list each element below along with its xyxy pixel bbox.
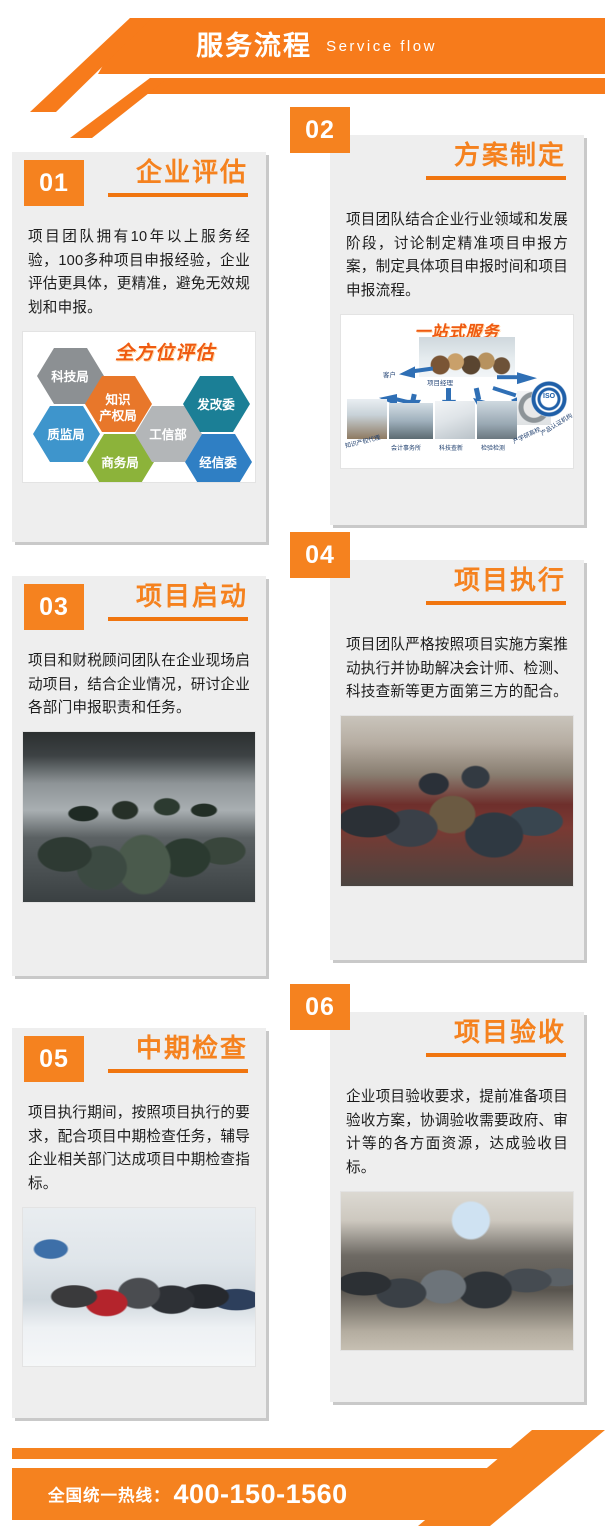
step-card-03[interactable]: 03 项目启动 项目和财税顾问团队在企业现场启动项目，结合企业情况，研讨企业各部… — [12, 576, 266, 976]
step-number-badge: 05 — [24, 1036, 84, 1082]
onestop-photo-search — [435, 401, 475, 439]
svg-text:发改委: 发改委 — [196, 397, 235, 412]
card-body-text: 项目团队拥有10年以上服务经验，100多种项目申报经验，企业评估更具体，更精准，… — [12, 214, 266, 331]
step-card-04[interactable]: 04 项目执行 项目团队严格按照项目实施方案推动执行并协助解决会计师、检测、科技… — [330, 560, 584, 960]
onestop-bottom-label-1: 会计事务所 — [391, 443, 421, 452]
step-number-badge: 04 — [290, 532, 350, 578]
onestop-bottom-label-2: 科技查新 — [439, 443, 463, 452]
svg-text:工信部: 工信部 — [149, 427, 187, 442]
card-media-photo — [22, 1207, 256, 1367]
card-media-photo — [340, 715, 574, 887]
card-media-hex-diagram: 全方位评估 科技局 质监局 知识 — [22, 331, 256, 483]
svg-text:商务局: 商务局 — [101, 455, 139, 470]
step-card-05[interactable]: 05 中期检查 项目执行期间，按照项目执行的要求，配合项目中期检查任务，辅导企业… — [12, 1028, 266, 1418]
card-header: 项目执行 — [330, 560, 584, 622]
footer-banner: 全国统一热线： 400-150-1560 — [0, 1430, 605, 1538]
card-media-photo — [22, 731, 256, 903]
title-underline — [108, 617, 248, 621]
photo-large-conference-acceptance — [341, 1192, 573, 1350]
step-card-06[interactable]: 06 项目验收 企业项目验收要求，提前准备项目验收方案，协调验收需要政府、审计等… — [330, 1012, 584, 1402]
onestop-iso-text: ISO — [543, 393, 555, 400]
step-number-badge: 03 — [24, 584, 84, 630]
hex-diagram: 全方位评估 科技局 质监局 知识 — [23, 332, 255, 482]
onestop-photo-accounting — [389, 403, 433, 439]
card-media-photo — [340, 1191, 574, 1351]
onestop-bottom-label-3: 检验检测 — [481, 443, 505, 452]
card-body-text: 项目和财税顾问团队在企业现场启动项目，结合企业情况，研讨企业各部门申报职责和任务… — [12, 638, 266, 731]
svg-text:科技局: 科技局 — [51, 369, 89, 384]
infographic-page: 服务流程 Service flow 01 企业评估 项目团队拥有10年以上服务经… — [0, 0, 605, 1538]
card-title: 项目验收 — [454, 1018, 566, 1048]
onestop-photo-testing — [477, 401, 517, 439]
title-underline — [426, 601, 566, 605]
title-underline — [426, 176, 566, 180]
photo-showroom-tour-group — [23, 1208, 255, 1366]
card-title: 项目执行 — [454, 566, 566, 596]
hex-diagram-title: 全方位评估 — [115, 338, 215, 365]
step-card-02[interactable]: 02 方案制定 项目团队结合企业行业领域和发展阶段，讨论制定精准项目申报方案，制… — [330, 135, 584, 525]
hotline-label: 全国统一热线： — [48, 1482, 171, 1506]
step-number-badge: 01 — [24, 160, 84, 206]
card-header: 方案制定 — [330, 135, 584, 197]
header-banner: 服务流程 Service flow — [0, 0, 605, 112]
card-title: 方案制定 — [454, 141, 566, 171]
step-number-badge: 02 — [290, 107, 350, 153]
card-title: 企业评估 — [136, 158, 248, 188]
hex-node-zhijian: 质监局 — [33, 406, 100, 462]
page-title: 服务流程 — [196, 33, 312, 60]
svg-text:知识: 知识 — [104, 392, 131, 407]
step-number-badge: 06 — [290, 984, 350, 1030]
title-underline — [108, 193, 248, 197]
title-underline — [426, 1053, 566, 1057]
footer-hotline-group: 全国统一热线： 400-150-1560 — [48, 1468, 348, 1520]
onestop-label-manager: 项目经理 — [427, 377, 453, 387]
card-body-text: 项目团队结合企业行业领域和发展阶段，讨论制定精准项目申报方案，制定具体项目申报时… — [330, 197, 584, 314]
onestop-diagram: 一站式服务 — [341, 315, 573, 468]
onestop-photo-ip — [347, 399, 387, 439]
card-header: 项目验收 — [330, 1012, 584, 1074]
page-subtitle: Service flow — [326, 39, 437, 54]
svg-text:产权局: 产权局 — [99, 408, 137, 423]
photo-conference-room-meeting — [23, 732, 255, 902]
card-body-text: 企业项目验收要求，提前准备项目验收方案，协调验收需要政府、审计等的各方面资源，达… — [330, 1074, 584, 1191]
card-title: 项目启动 — [136, 582, 248, 612]
card-media-onestop-diagram: 一站式服务 — [340, 314, 574, 469]
card-body-text: 项目团队严格按照项目实施方案推动执行并协助解决会计师、检测、科技查新等更方面第三… — [330, 622, 584, 715]
card-title: 中期检查 — [136, 1034, 248, 1064]
svg-text:质监局: 质监局 — [47, 427, 85, 442]
card-body-text: 项目执行期间，按照项目执行的要求，配合项目中期检查任务，辅导企业相关部门达成项目… — [12, 1090, 266, 1207]
step-card-01[interactable]: 01 企业评估 项目团队拥有10年以上服务经验，100多种项目申报经验，企业评估… — [12, 152, 266, 542]
hotline-number[interactable]: 400-150-1560 — [174, 1479, 348, 1510]
header-title-group: 服务流程 Service flow — [0, 18, 605, 74]
onestop-label-customer: 客户 — [383, 369, 396, 379]
photo-working-session-laptops — [341, 716, 573, 886]
header-accent-stripe — [0, 78, 605, 96]
svg-text:经信委: 经信委 — [199, 455, 237, 470]
title-underline — [108, 1069, 248, 1073]
